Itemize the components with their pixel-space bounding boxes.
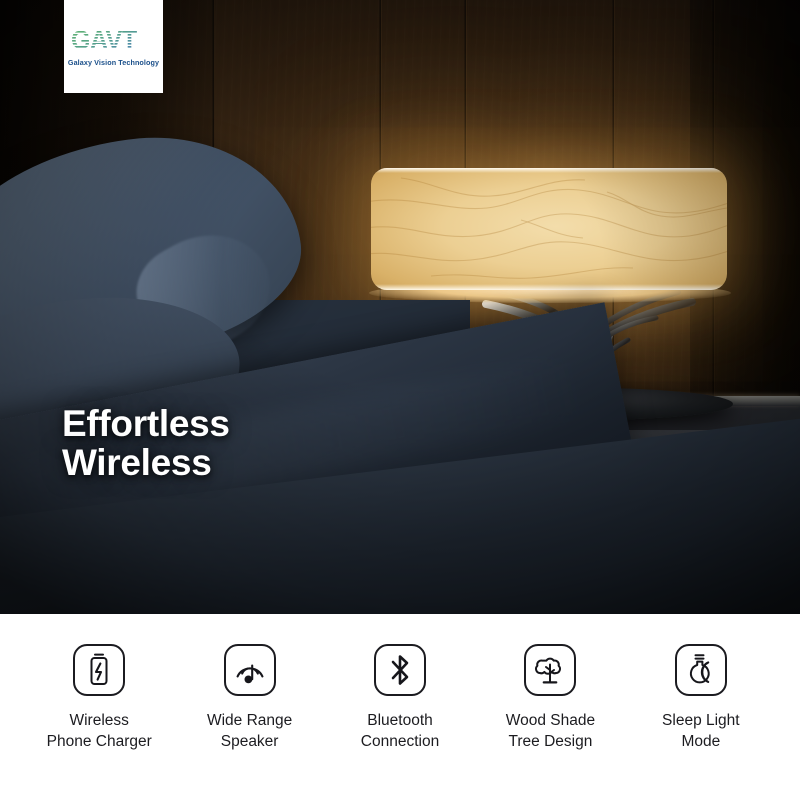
feature-label-line2: Speaker [207, 732, 292, 753]
feature-item-bluetooth: Bluetooth Connection [325, 644, 475, 752]
feature-label-line1: Sleep Light [662, 711, 740, 732]
feature-item-sleep-light: Sleep Light Mode [626, 644, 776, 752]
feature-label: Wireless Phone Charger [47, 711, 152, 752]
feature-label: Wide Range Speaker [207, 711, 292, 752]
hero-headline: Effortless Wireless [62, 404, 230, 482]
battery-charging-icon [73, 644, 125, 696]
feature-item-tree-design: Wood Shade Tree Design [475, 644, 625, 752]
bulb-moon-icon [675, 644, 727, 696]
lamp-shade [371, 168, 727, 290]
feature-label-line2: Connection [361, 732, 439, 753]
tree-icon [524, 644, 576, 696]
feature-label-line1: Bluetooth [361, 711, 439, 732]
feature-label-line2: Phone Charger [47, 732, 152, 753]
brand-logo: GAVT Galaxy Vision Technology [64, 0, 163, 93]
feature-item-wireless-charger: Wireless Phone Charger [24, 644, 174, 752]
brand-tagline: Galaxy Vision Technology [68, 58, 159, 67]
feature-label-line1: Wood Shade [506, 711, 595, 732]
feature-label: Bluetooth Connection [361, 711, 439, 752]
feature-strip: Wireless Phone Charger Wide Range Speake… [0, 614, 800, 800]
music-waves-icon [224, 644, 276, 696]
feature-label-line2: Mode [662, 732, 740, 753]
headline-line-2: Wireless [62, 443, 230, 482]
hero-photo: Effortless Wireless [0, 0, 800, 614]
feature-label: Wood Shade Tree Design [506, 711, 595, 752]
feature-label-line1: Wireless [47, 711, 152, 732]
wood-veneer-grain [371, 168, 727, 290]
feature-label-line1: Wide Range [207, 711, 292, 732]
feature-label: Sleep Light Mode [662, 711, 740, 752]
feature-item-speaker: Wide Range Speaker [174, 644, 324, 752]
svg-text:GAVT: GAVT [71, 27, 137, 55]
headline-line-1: Effortless [62, 404, 230, 443]
product-banner: Effortless Wireless [0, 0, 800, 800]
gavt-wordmark-icon: GAVT [70, 26, 158, 56]
bluetooth-icon [374, 644, 426, 696]
feature-label-line2: Tree Design [506, 732, 595, 753]
